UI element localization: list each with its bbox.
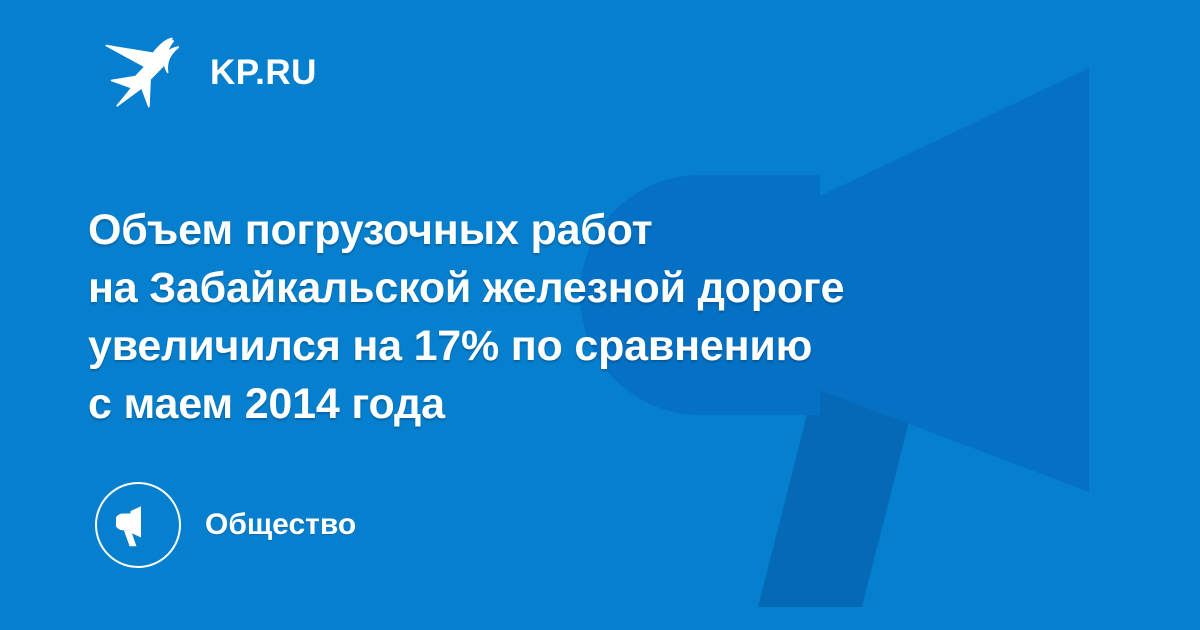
category-label: Общество xyxy=(205,510,356,540)
brand-name: KP.RU xyxy=(210,55,317,90)
category-badge[interactable]: Общество xyxy=(95,481,356,569)
megaphone-glyph xyxy=(116,505,160,547)
megaphone-icon xyxy=(95,482,181,568)
news-share-card: KP.RU Объем погрузочных работ на Забайка… xyxy=(0,0,1200,630)
brand-header[interactable]: KP.RU xyxy=(104,33,317,111)
page-title: Объем погрузочных работ на Забайкальской… xyxy=(88,201,1018,433)
swallow-bird-icon xyxy=(104,35,186,109)
